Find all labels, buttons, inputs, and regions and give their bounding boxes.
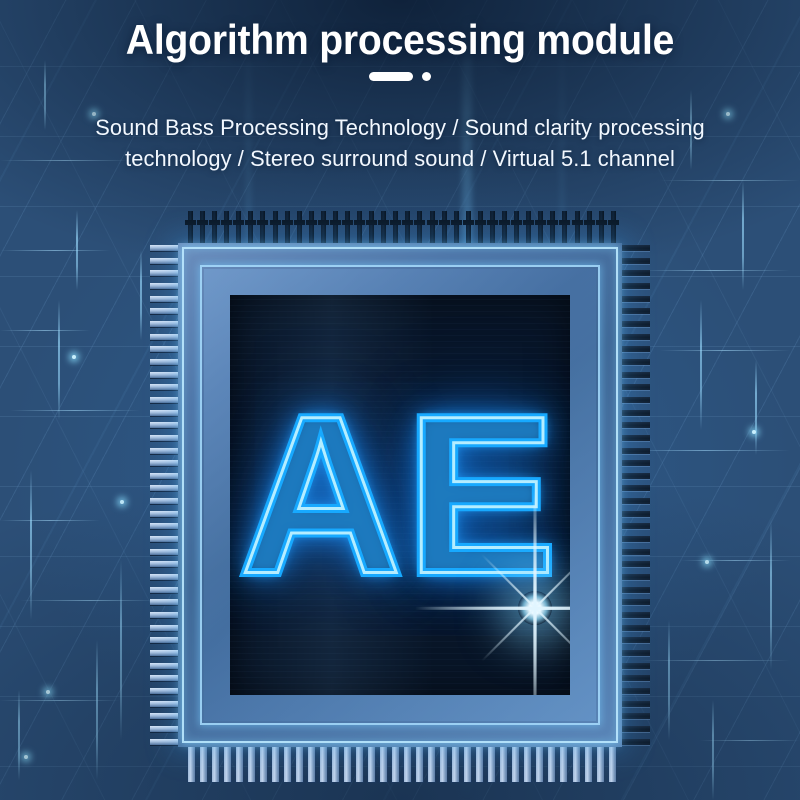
chip-pin [320, 745, 327, 782]
chip-pin [188, 211, 193, 245]
page-subtitle: Sound Bass Processing Technology / Sound… [45, 112, 755, 174]
chip-pin [332, 745, 339, 782]
chip-pin [260, 745, 267, 782]
chip-pin [560, 745, 567, 782]
chip-pin [369, 211, 374, 245]
chip-pin [284, 745, 291, 782]
chip-pin [321, 211, 326, 245]
processor-chip: AE AE [150, 205, 650, 785]
chip-pin [417, 211, 422, 245]
chip-pin [442, 211, 447, 245]
chip-pin [550, 211, 555, 245]
chip-pin [273, 211, 278, 245]
chip-pin [464, 745, 471, 782]
chip-pin [380, 745, 387, 782]
chip-pin [488, 745, 495, 782]
chip-pin [536, 745, 543, 782]
chip-pin [490, 211, 495, 245]
chip-pin [500, 745, 507, 782]
chip-pin [356, 745, 363, 782]
divider-pill-icon [369, 72, 413, 81]
chip-pin [381, 211, 386, 245]
chip-pin [308, 745, 315, 782]
chip-pin [454, 211, 459, 245]
chip-pin [297, 211, 302, 245]
chip-pin [514, 211, 519, 245]
chip-pin [440, 745, 447, 782]
chip-pin [476, 745, 483, 782]
chip-pin [599, 211, 604, 245]
chip-body: AE AE [178, 243, 622, 747]
chip-pin [333, 211, 338, 245]
chip-pin [224, 745, 231, 782]
chip-pin [428, 745, 435, 782]
chip-logo-text: AE [230, 383, 570, 608]
chip-pins-bottom [188, 745, 616, 785]
chip-pin [285, 211, 290, 245]
chip-pin [512, 745, 519, 782]
chip-pin [393, 211, 398, 245]
chip-pin [524, 745, 531, 782]
chip-pin [344, 745, 351, 782]
chip-pin [526, 211, 531, 245]
chip-pin [575, 211, 580, 245]
chip-pin [573, 745, 580, 782]
chip-pin [597, 745, 604, 782]
chip-pin [416, 745, 423, 782]
chip-pin [585, 745, 592, 782]
chip-pin [502, 211, 507, 245]
title-divider [0, 72, 800, 81]
flare-ray [534, 488, 537, 695]
chip-die: AE AE [230, 295, 570, 695]
chip-pin [188, 745, 195, 782]
chip-pin [236, 211, 241, 245]
chip-pin [611, 211, 616, 245]
chip-pin [236, 745, 243, 782]
chip-pin [466, 211, 471, 245]
chip-pin [224, 211, 229, 245]
flare-ray [415, 607, 570, 610]
chip-pin [357, 211, 362, 245]
page-title: Algorithm processing module [28, 16, 772, 64]
chip-pin [368, 745, 375, 782]
chip-pin [345, 211, 350, 245]
chip-pin [587, 211, 592, 245]
chip-pin [248, 745, 255, 782]
chip-pin [212, 211, 217, 245]
chip-pin [452, 745, 459, 782]
chip-pin [260, 211, 265, 245]
chip-pin [609, 745, 616, 782]
chip-pin [538, 211, 543, 245]
chip-pin [248, 211, 253, 245]
chip-pin [548, 745, 555, 782]
chip-pin [309, 211, 314, 245]
chip-pin [296, 745, 303, 782]
chip-pin [404, 745, 411, 782]
chip-pin [478, 211, 483, 245]
chip-pin [212, 745, 219, 782]
chip-pin [272, 745, 279, 782]
chip-pin [405, 211, 410, 245]
chip-pin [200, 745, 207, 782]
chip-pin [392, 745, 399, 782]
chip-pin [562, 211, 567, 245]
promo-banner: Algorithm processing module Sound Bass P… [0, 0, 800, 800]
divider-dot-icon [422, 72, 431, 81]
chip-pin [430, 211, 435, 245]
chip-pins-top [188, 205, 616, 245]
chip-pin [200, 211, 205, 245]
